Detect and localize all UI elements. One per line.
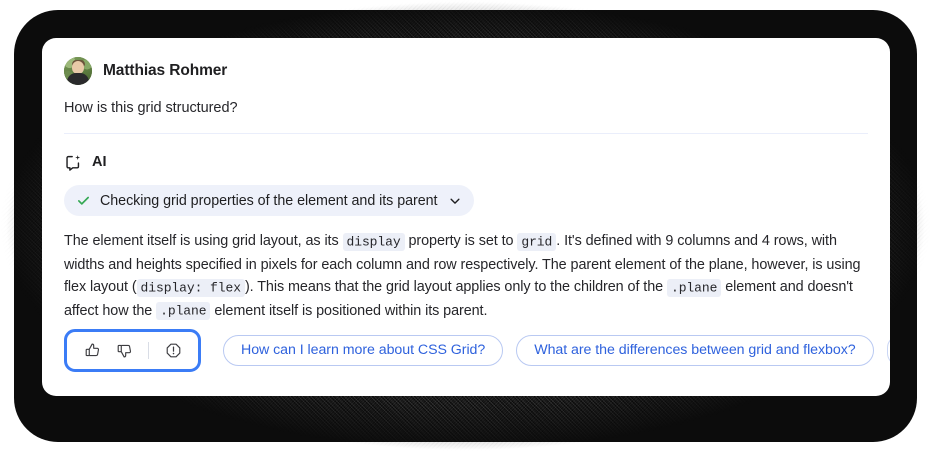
user-name: Matthias Rohmer bbox=[103, 62, 227, 80]
inline-code: display bbox=[343, 233, 405, 251]
inline-code: .plane bbox=[156, 302, 210, 320]
tool-status-text: Checking grid properties of the element … bbox=[100, 193, 437, 209]
section-divider bbox=[64, 133, 868, 134]
check-icon bbox=[76, 193, 91, 208]
suggestion-chip[interactable] bbox=[887, 335, 890, 366]
assistant-label: AI bbox=[92, 154, 107, 170]
thumbs-up-icon[interactable] bbox=[77, 337, 107, 365]
tool-status-pill[interactable]: Checking grid properties of the element … bbox=[64, 185, 474, 216]
message-actions: How can I learn more about CSS Grid? Wha… bbox=[64, 329, 890, 372]
inline-code: .plane bbox=[667, 279, 721, 297]
avatar bbox=[64, 57, 92, 85]
chat-card: Matthias Rohmer How is this grid structu… bbox=[42, 38, 890, 396]
inline-code: grid bbox=[517, 233, 556, 251]
ai-sparkle-icon bbox=[64, 153, 83, 172]
actions-separator bbox=[148, 342, 149, 359]
feedback-button-group-focus-ring bbox=[64, 329, 201, 372]
suggestion-chips: How can I learn more about CSS Grid? Wha… bbox=[223, 335, 890, 366]
suggestion-chip[interactable]: How can I learn more about CSS Grid? bbox=[223, 335, 503, 366]
suggestion-chip[interactable]: What are the differences between grid an… bbox=[516, 335, 873, 366]
user-message: How is this grid structured? bbox=[64, 100, 868, 116]
assistant-answer: The element itself is using grid layout,… bbox=[64, 230, 864, 323]
feedback-button-group bbox=[69, 334, 196, 367]
screenshot-scene: Matthias Rohmer How is this grid structu… bbox=[0, 0, 931, 451]
inline-code: display: flex bbox=[137, 279, 245, 297]
thumbs-down-icon[interactable] bbox=[109, 337, 139, 365]
report-icon[interactable] bbox=[158, 337, 188, 365]
user-header: Matthias Rohmer bbox=[64, 56, 868, 86]
chevron-down-icon[interactable] bbox=[448, 194, 462, 208]
assistant-header: AI bbox=[64, 152, 868, 172]
